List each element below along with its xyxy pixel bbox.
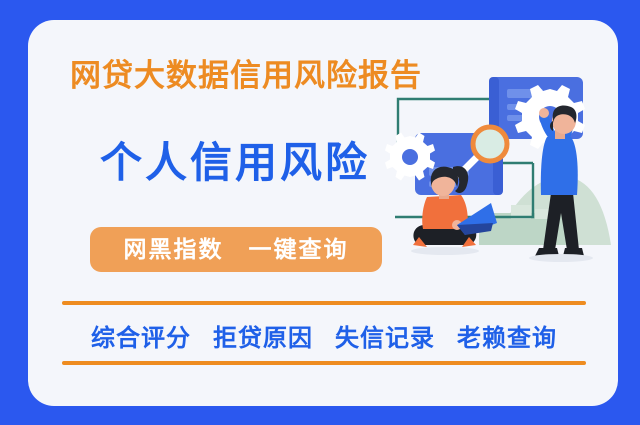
query-cta-label: 网黑指数 一键查询: [90, 227, 382, 272]
divider-bottom: [62, 361, 586, 365]
divider-top: [62, 301, 586, 305]
feature-item-score[interactable]: 综合评分: [91, 318, 191, 353]
feature-item-laolai[interactable]: 老赖查询: [457, 318, 557, 353]
feature-item-reason[interactable]: 拒贷原因: [213, 318, 313, 353]
feature-item-record[interactable]: 失信记录: [335, 318, 435, 353]
promo-poster: 网贷大数据信用风险报告 个人信用风险 网黑指数 一键查询 综合评分 拒贷原因 失…: [0, 0, 640, 425]
poster-card: 网贷大数据信用风险报告 个人信用风险 网黑指数 一键查询 综合评分 拒贷原因 失…: [28, 20, 618, 406]
query-cta-button[interactable]: 网黑指数 一键查询: [90, 227, 382, 272]
feature-list: 综合评分 拒贷原因 失信记录 老赖查询: [62, 312, 586, 358]
page-subtitle: 个人信用风险: [100, 138, 370, 188]
page-title: 网贷大数据信用风险报告: [70, 57, 422, 95]
